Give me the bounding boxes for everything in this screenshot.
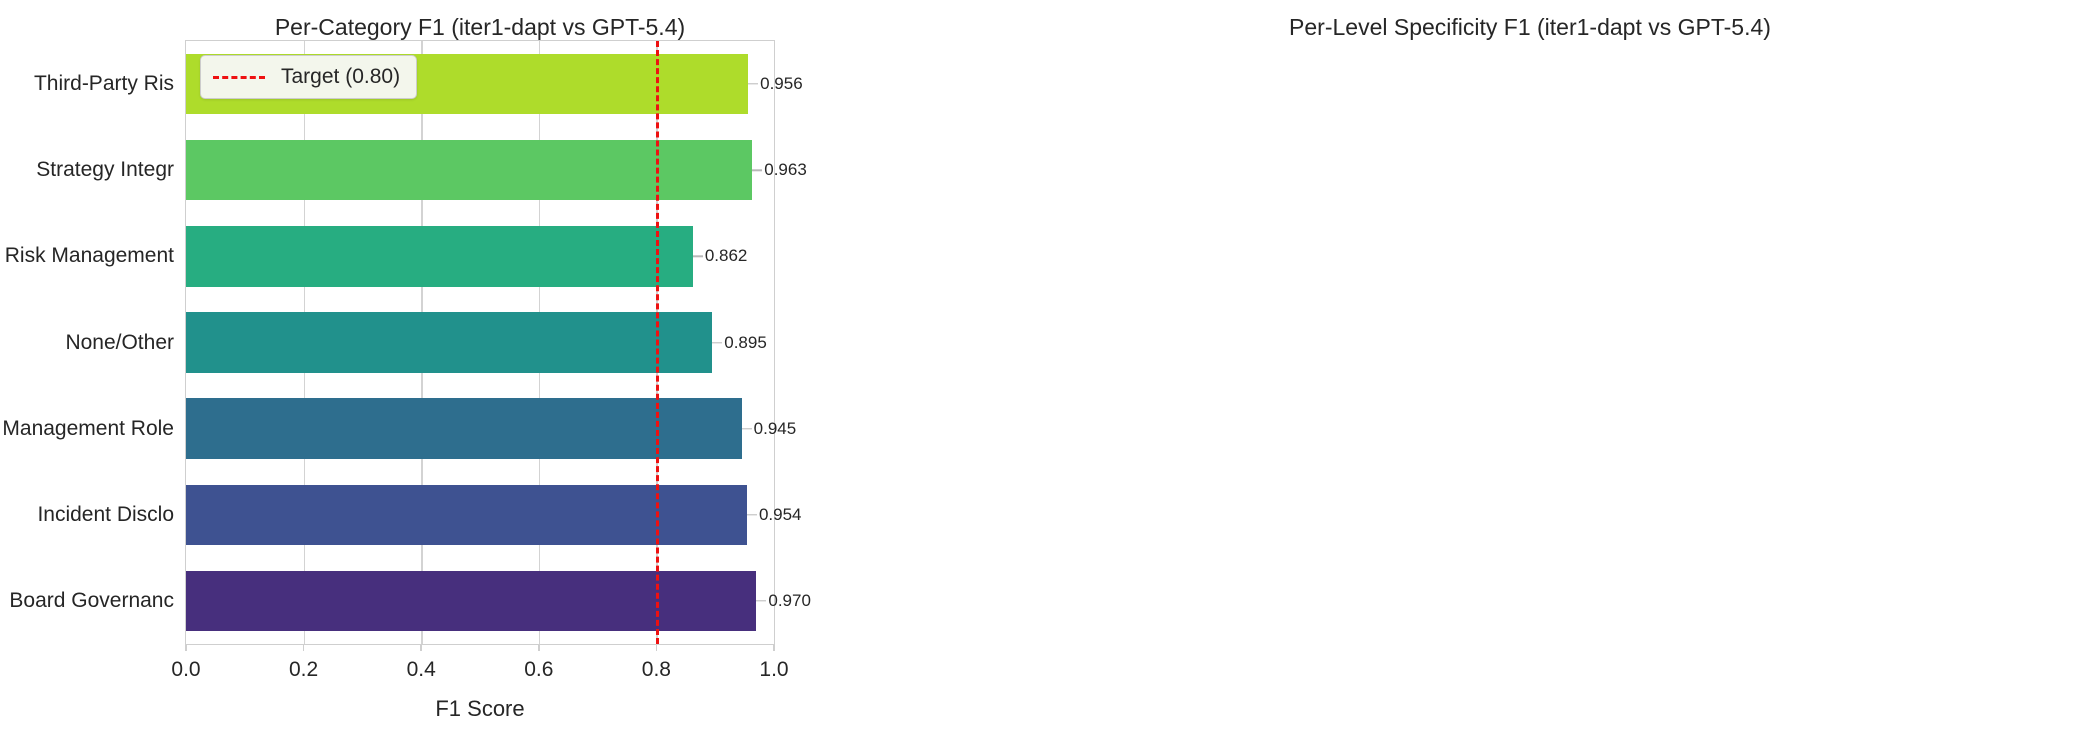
bar-value-label: 0.970	[768, 591, 811, 611]
bar-value-label: 0.862	[705, 246, 748, 266]
value-connector	[748, 83, 758, 84]
y-tick-label: Management Role	[2, 417, 174, 441]
legend-left: Target (0.80)	[200, 55, 417, 99]
value-connector	[693, 256, 703, 257]
y-tick-label: Third-Party Ris	[34, 72, 174, 96]
chart-title-left: Per-Category F1 (iter1-dapt vs GPT-5.4)	[185, 14, 775, 41]
bar[interactable]	[186, 485, 747, 545]
bar[interactable]	[186, 571, 756, 631]
figure-canvas: Per-Category F1 (iter1-dapt vs GPT-5.4) …	[0, 0, 2100, 750]
x-tick-mark	[773, 644, 775, 651]
x-tick-mark	[656, 644, 658, 651]
value-connector	[756, 600, 766, 601]
bar-value-label: 0.945	[754, 419, 797, 439]
value-connector	[747, 514, 757, 515]
target-dashed-line-icon	[213, 76, 265, 79]
y-tick-label: None/Other	[65, 331, 174, 355]
value-connector	[752, 170, 762, 171]
bar-value-label: 0.956	[760, 74, 803, 94]
x-tick-mark	[420, 644, 422, 651]
y-tick-label: Board Governanc	[9, 589, 174, 613]
y-tick-label: Incident Disclo	[37, 503, 174, 527]
x-tick-label: 0.4	[407, 658, 436, 682]
bar-value-label: 0.954	[759, 505, 802, 525]
value-connector	[712, 342, 722, 343]
chart-title-right: Per-Level Specificity F1 (iter1-dapt vs …	[1235, 14, 1825, 41]
bar-value-label: 0.963	[764, 160, 807, 180]
bar[interactable]	[186, 312, 712, 372]
x-tick-label: 0.6	[524, 658, 553, 682]
x-tick-label: 1.0	[759, 658, 788, 682]
x-tick-mark	[538, 644, 540, 651]
x-tick-label: 0.2	[289, 658, 318, 682]
chart-panel-per-category: Per-Category F1 (iter1-dapt vs GPT-5.4) …	[0, 0, 1050, 750]
x-tick-mark	[185, 644, 187, 651]
target-line-left	[656, 41, 659, 644]
legend-label-target-left: Target (0.80)	[281, 65, 400, 89]
x-tick-label: 0.8	[642, 658, 671, 682]
bars-left: 0.9560.9630.8620.8950.9450.9540.970	[186, 41, 774, 644]
y-tick-label: Strategy Integr	[36, 158, 174, 182]
x-axis-label-left: F1 Score	[186, 696, 774, 722]
x-tick-mark	[303, 644, 305, 651]
y-tick-label: Risk Management	[5, 244, 174, 268]
value-connector	[742, 428, 752, 429]
chart-panel-per-level: Per-Level Specificity F1 (iter1-dapt vs …	[1050, 0, 2100, 750]
bar[interactable]	[186, 226, 693, 286]
bar-value-label: 0.895	[724, 333, 767, 353]
bar[interactable]	[186, 140, 752, 200]
x-tick-label: 0.0	[171, 658, 200, 682]
plot-area-left: 0.9560.9630.8620.8950.9450.9540.970 Targ…	[185, 40, 775, 645]
